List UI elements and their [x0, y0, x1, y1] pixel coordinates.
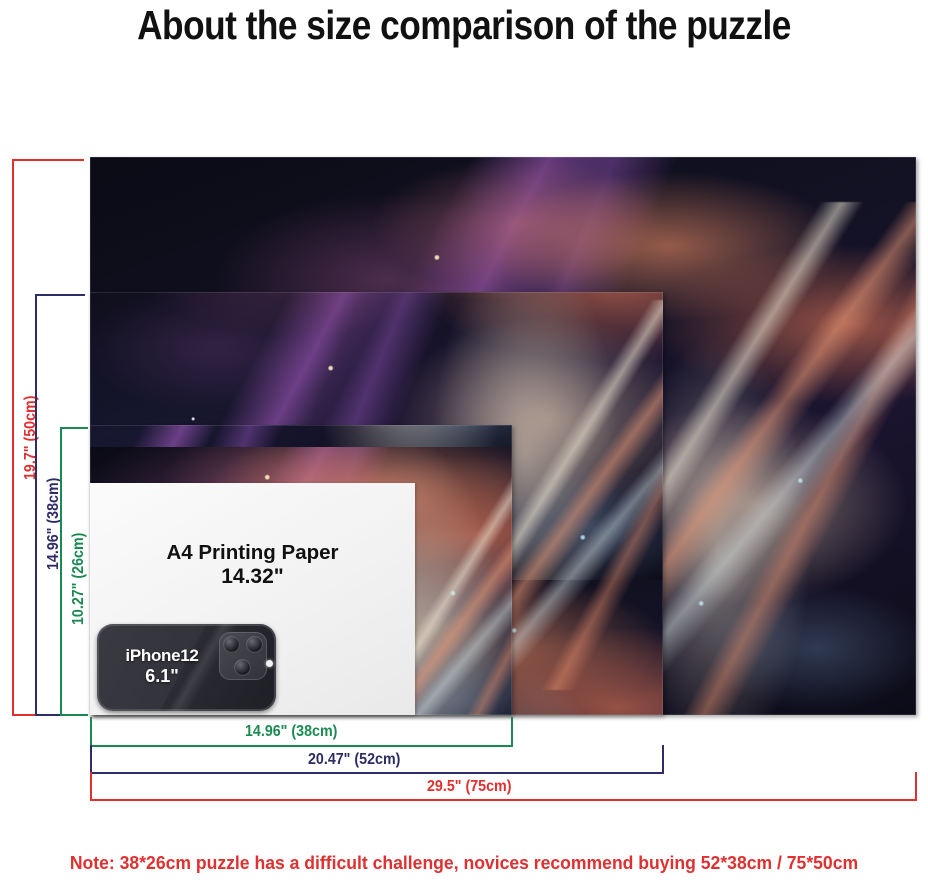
a4-paper-diagonal: 14.32": [90, 565, 415, 590]
camera-lens-icon: [246, 636, 263, 653]
dimension-label-vertical-large: 19.7" (50cm): [22, 396, 40, 480]
camera-lens-icon: [234, 659, 251, 676]
footer-note: Note: 38*26cm puzzle has a difficult cha…: [23, 852, 905, 874]
dimension-label-horizontal-medium: 20.47" (52cm): [308, 751, 400, 769]
camera-module-icon: [219, 632, 267, 680]
dimension-label-horizontal-small: 14.96" (38cm): [245, 723, 337, 741]
camera-lens-icon: [223, 636, 240, 653]
iphone-label: iPhone12 6.1": [103, 646, 221, 686]
camera-flash-icon: [266, 660, 273, 667]
dimension-label-horizontal-large: 29.5" (75cm): [427, 778, 511, 796]
dimension-label-vertical-small: 10.27" (26cm): [70, 533, 88, 625]
iphone-reference: iPhone12 6.1": [97, 624, 276, 711]
a4-paper-name: A4 Printing Paper: [90, 541, 415, 565]
iphone-diagonal: 6.1": [103, 666, 221, 687]
a4-paper-label: A4 Printing Paper 14.32": [90, 541, 415, 590]
page-title: About the size comparison of the puzzle: [65, 2, 863, 49]
infographic-root: About the size comparison of the puzzle: [0, 0, 928, 882]
iphone-name: iPhone12: [103, 646, 221, 666]
